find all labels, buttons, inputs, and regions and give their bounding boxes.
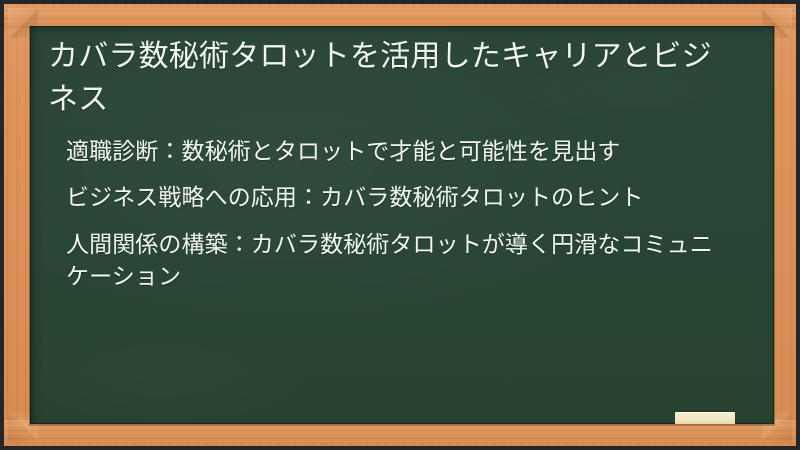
bullet-item-1: 適職診断：数秘術とタロットで才能と可能性を見出す [66, 135, 724, 167]
bullet-item-3: 人間関係の構築：カバラ数秘術タロットが導く円滑なコミュニケーション [66, 228, 724, 292]
slide-title: カバラ数秘術タロットを活用したキャリアとビジネス [44, 34, 758, 121]
chalk-icon [675, 412, 735, 424]
chalkboard: カバラ数秘術タロットを活用したキャリアとビジネス 適職診断：数秘術とタロットで才… [30, 26, 774, 424]
slide-screen: カバラ数秘術タロットを活用したキャリアとビジネス 適職診断：数秘術とタロットで才… [0, 0, 800, 450]
bullet-item-2: ビジネス戦略への応用：カバラ数秘術タロットのヒント [66, 181, 724, 213]
bullet-list: 適職診断：数秘術とタロットで才能と可能性を見出す ビジネス戦略への応用：カバラ数… [44, 135, 758, 292]
chalkboard-content: カバラ数秘術タロットを活用したキャリアとビジネス 適職診断：数秘術とタロットで才… [30, 26, 774, 424]
